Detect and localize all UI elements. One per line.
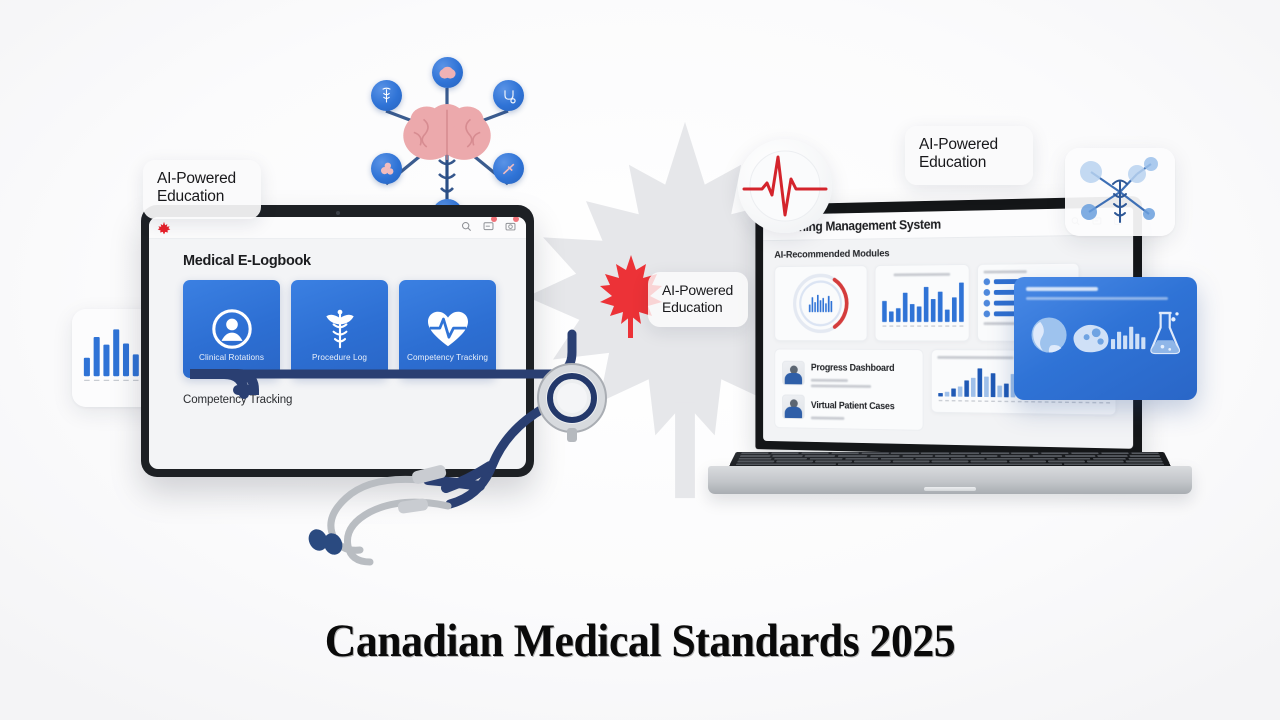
heartbeat-ecg-card (738, 139, 832, 233)
bar-chart-icon (1110, 323, 1146, 357)
node-syringe-icon[interactable] (493, 153, 524, 184)
module-icon (984, 300, 991, 307)
flask-icon (1147, 309, 1183, 357)
module-icon (984, 310, 991, 317)
callout-ai-powered-education-mid: AI-Powered Education (648, 272, 748, 327)
search-icon[interactable] (461, 219, 472, 237)
list-item[interactable]: Virtual Patient Cases (780, 391, 917, 425)
list-item-subtitle (811, 416, 844, 419)
node-pills-icon[interactable] (371, 153, 402, 184)
caduceus-icon (379, 87, 394, 104)
clinician-avatar (782, 360, 805, 385)
callout-line-2: Education (157, 188, 247, 206)
heartbeat-ecg-icon (738, 139, 832, 233)
lms-module-chart-card[interactable] (875, 264, 970, 342)
card-title-placeholder (937, 356, 1013, 359)
module-icon (984, 278, 991, 285)
pills-icon (379, 161, 395, 177)
clinician-avatar (782, 394, 805, 419)
callout-line-2: Education (919, 154, 1019, 172)
messages-icon[interactable] (483, 219, 494, 237)
page-title: Canadian Medical Standards 2025 (45, 614, 1235, 668)
callout-line-1: AI-Powered (919, 136, 1019, 154)
card-title-placeholder (894, 273, 951, 276)
callout-line-1: AI-Powered (662, 282, 734, 299)
brain-icon (402, 100, 492, 168)
card-subtitle-placeholder (1026, 297, 1168, 300)
laptop-base (700, 452, 1200, 494)
list-item[interactable]: Progress Dashboard (780, 354, 917, 392)
node-stethoscope-icon[interactable] (493, 80, 524, 111)
card-title-placeholder (1026, 287, 1098, 291)
stethoscope-icon (501, 88, 517, 104)
donut-chart-icon (788, 268, 853, 338)
callout-ai-powered-education-right: AI-Powered Education (905, 126, 1033, 185)
tablet-topbar (149, 217, 526, 239)
list-item-title: Virtual Patient Cases (811, 400, 895, 412)
laptop-keyboard (729, 452, 1171, 466)
medical-molecule-card (1065, 148, 1175, 236)
list-item-meta (811, 384, 871, 388)
callout-line-1: AI-Powered (157, 170, 247, 188)
tablet-page-title: Medical E-Logbook (149, 239, 526, 269)
notification-badge (513, 217, 519, 222)
callout-line-2: Education (662, 299, 734, 316)
trackpad-notch (924, 487, 976, 491)
card-title-placeholder (984, 270, 1027, 273)
canada-flag-icon (157, 221, 171, 235)
list-item-title: Progress Dashboard (811, 363, 895, 374)
medical-molecule-icon (1065, 148, 1175, 236)
node-caduceus-icon[interactable] (371, 80, 402, 111)
lms-section-title: AI-Recommended Modules (774, 244, 1122, 260)
notification-badge (491, 217, 497, 222)
lms-item-list: Progress Dashboard Virtual (774, 349, 923, 431)
globe-icon (1028, 313, 1070, 357)
kidney-icon (1070, 319, 1110, 357)
poster-canvas: Medical E-Logbook Clinical Rotations (0, 0, 1280, 720)
callout-ai-powered-education-left: AI-Powered Education (143, 160, 261, 219)
lms-donut-chart-card[interactable] (774, 265, 867, 341)
bar-chart-icon (881, 280, 965, 334)
module-icon (984, 289, 991, 296)
brain-icon (439, 66, 456, 80)
node-brain-icon[interactable] (432, 57, 463, 88)
laptop-deck (708, 466, 1192, 494)
tablet-camera (336, 211, 340, 215)
ai-feature-card[interactable] (1014, 277, 1197, 400)
list-item-subtitle (811, 379, 848, 382)
camera-icon[interactable] (505, 219, 516, 237)
syringe-icon (501, 161, 517, 177)
